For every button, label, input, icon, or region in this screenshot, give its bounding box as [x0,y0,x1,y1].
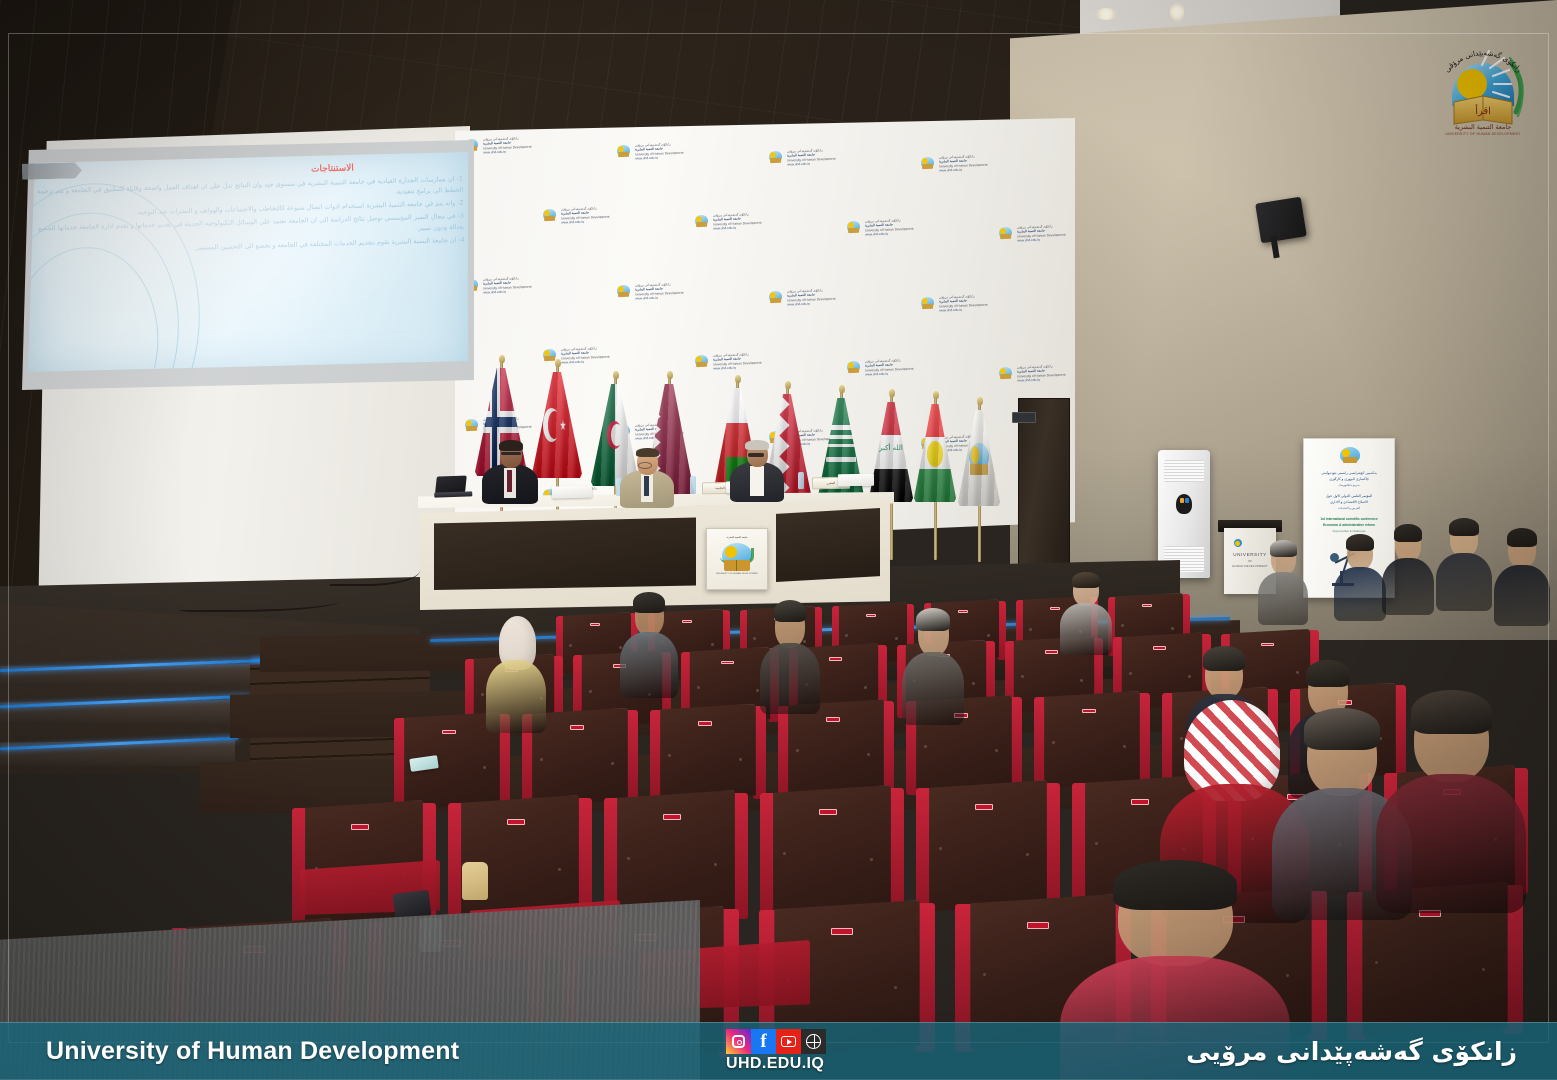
audience-member [1258,540,1308,620]
audience-member [620,592,678,692]
audience-member [1060,572,1112,650]
logo-arabic-name: جامعة التنمية البشرية [1455,123,1512,131]
instagram-icon[interactable] [726,1029,751,1054]
audience-member [760,600,820,708]
website-icon[interactable] [801,1029,826,1054]
logo-book-word: اقرأ [1475,104,1491,117]
footer-english-name: University of Human Development [46,1037,459,1066]
footer-bar: University of Human Development f [0,1022,1557,1080]
youtube-icon[interactable] [776,1029,801,1054]
conference-photo: زانكۆی گەشەپێدانی مرۆڤیجامعة التنمية الب… [0,0,1557,1080]
social-links: f UHD.EDU.IQ [726,1029,826,1073]
audience [0,0,1557,1080]
handbag [462,862,488,900]
social-icon-row: f [726,1029,826,1054]
audience-member [1436,518,1492,606]
footer-kurdish-name: زانكۆی گەشەپێدانی مرۆیی [1186,1037,1517,1066]
audience-member [902,608,964,718]
audience-member [1376,690,1526,900]
audience-member [1334,534,1386,616]
audience-member [1382,524,1434,610]
audience-member-hijab [486,616,546,726]
uhd-logo: اقرأ زانكۆی گەشەپێدانی مرۆڤی جامعة التنم… [1424,24,1542,136]
facebook-icon[interactable]: f [751,1029,776,1054]
website-url[interactable]: UHD.EDU.IQ [726,1055,824,1073]
audience-member [1494,528,1550,620]
logo-english-name: UNIVERSITY OF HUMAN DEVELOPMENT [1445,132,1520,136]
